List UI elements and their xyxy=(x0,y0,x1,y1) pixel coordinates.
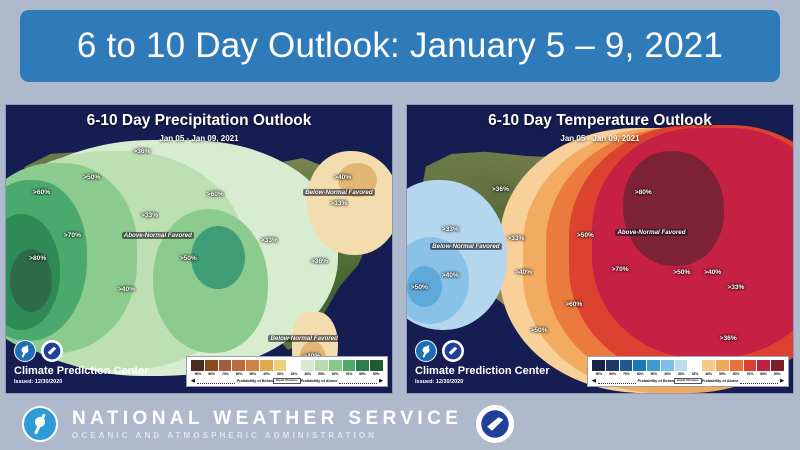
nws-logo-icon xyxy=(41,340,63,362)
nws-footer: NATIONAL WEATHER SERVICE OCEANIC AND ATM… xyxy=(0,398,800,450)
temp-contour-label: >50% xyxy=(411,284,428,291)
temp-contour-label: >50% xyxy=(577,232,594,239)
legend-pct: 33% xyxy=(273,372,287,376)
temp-contour-label: >70% xyxy=(612,266,629,273)
temp-contour-label: >33% xyxy=(442,226,459,233)
precip-favored-label: Above-Normal Favored xyxy=(122,232,194,239)
precip-issued-date: Issued: 12/30/2020 xyxy=(14,379,148,385)
legend-right-arrow-icon: ▶ xyxy=(780,378,784,384)
legend-swatch xyxy=(661,360,675,371)
temp-credit-block: Climate Prediction Center Issued: 12/30/… xyxy=(415,340,549,385)
precip-contour-label: >50% xyxy=(83,174,100,181)
legend-swatch xyxy=(274,360,288,371)
outlook-graphic: 6 to 10 Day Outlook: January 5 – 9, 2021… xyxy=(0,0,800,450)
temp-contour-label: >50% xyxy=(531,327,548,334)
legend-swatch xyxy=(191,360,205,371)
legend-pct: 40% xyxy=(301,372,315,376)
legend-pct: 50% xyxy=(246,372,260,376)
temp-legend-percents: 50% 80% 70% 60% 50% 40% 33% 33% 40% 50% … xyxy=(592,372,784,376)
legend-pct: 50% xyxy=(314,372,328,376)
temp-contour-label: >33% xyxy=(507,235,524,242)
temp-legend-swatches xyxy=(592,360,784,371)
precip-contour-label: >33% xyxy=(330,200,347,207)
legend-pct: 70% xyxy=(619,372,633,376)
legend-swatch xyxy=(329,360,343,371)
legend-swatch xyxy=(301,360,315,371)
temp-contour-label: >60% xyxy=(565,301,582,308)
noaa-seal-icon xyxy=(22,406,58,442)
legend-pct: 60% xyxy=(729,372,743,376)
precip-contour-label: >60% xyxy=(207,191,224,198)
legend-pct: 80% xyxy=(757,372,771,376)
legend-swatch xyxy=(647,360,661,371)
legend-swatch xyxy=(356,360,370,371)
temp-contour-label: >33% xyxy=(727,284,744,291)
temp-shade-above-80-core xyxy=(623,151,723,266)
precip-favored-label: Below-Normal Favored xyxy=(303,189,374,196)
legend-swatch xyxy=(771,360,784,371)
legend-pct: 80% xyxy=(606,372,620,376)
nws-seal-icon xyxy=(476,405,514,443)
legend-right-arrow-icon: ▶ xyxy=(379,378,383,384)
legend-pct: 70% xyxy=(218,372,232,376)
page-title: 6 to 10 Day Outlook: January 5 – 9, 2021 xyxy=(77,26,723,66)
legend-swatch xyxy=(205,360,219,371)
legend-dots xyxy=(598,379,636,384)
legend-left-arrow-icon: ◀ xyxy=(592,378,596,384)
legend-pct: 50% xyxy=(715,372,729,376)
legend-above-label: Probability of Above xyxy=(702,379,739,383)
precip-favored-label: Below-Normal Favored xyxy=(268,335,339,342)
legend-pct: 50% xyxy=(647,372,661,376)
temp-favored-label: Below-Normal Favored xyxy=(430,243,501,250)
legend-swatch xyxy=(232,360,246,371)
legend-pct: 50% xyxy=(770,372,784,376)
legend-swatch xyxy=(219,360,233,371)
legend-left-arrow-icon: ◀ xyxy=(191,378,195,384)
legend-pct: 60% xyxy=(328,372,342,376)
temperature-map-panel[interactable]: 6-10 Day Temperature Outlook Jan 05 - Ja… xyxy=(406,104,794,394)
footer-agency-name: NATIONAL WEATHER SERVICE xyxy=(72,409,462,428)
legend-pct: 60% xyxy=(232,372,246,376)
temp-contour-label: >80% xyxy=(635,189,652,196)
credit-logos xyxy=(14,340,148,362)
legend-pct: 40% xyxy=(260,372,274,376)
temp-contour-label: >36% xyxy=(720,335,737,342)
legend-swatch xyxy=(620,360,634,371)
temp-contour-label: >36% xyxy=(492,186,509,193)
legend-pct: 50% xyxy=(369,372,383,376)
legend-pct: 40% xyxy=(702,372,716,376)
legend-swatch xyxy=(592,360,606,371)
legend-dots xyxy=(740,379,778,384)
legend-pct: 33% xyxy=(688,372,702,376)
title-banner: 6 to 10 Day Outlook: January 5 – 9, 2021 xyxy=(20,10,780,82)
legend-below-label: Probability of Below xyxy=(638,379,675,383)
precip-credit-title: Climate Prediction Center xyxy=(14,365,148,377)
nws-logo-icon xyxy=(442,340,464,362)
legend-swatch xyxy=(744,360,758,371)
legend-swatch xyxy=(716,360,730,371)
temp-contour-label: >40% xyxy=(704,269,721,276)
precipitation-map-panel[interactable]: 6-10 Day Precipitation Outlook Jan 05 - … xyxy=(5,104,393,394)
legend-swatch xyxy=(315,360,329,371)
credit-logos xyxy=(415,340,549,362)
legend-swatch xyxy=(287,360,301,371)
temp-contour-label: >40% xyxy=(515,269,532,276)
legend-swatch xyxy=(246,360,260,371)
precip-legend-percents: 50% 80% 70% 60% 50% 40% 33% 33% 40% 50% … xyxy=(191,372,383,376)
temp-contour-label: >40% xyxy=(442,272,459,279)
legend-dots xyxy=(197,379,235,384)
legend-pct: 33% xyxy=(674,372,688,376)
legend-pct: 80% xyxy=(205,372,219,376)
precip-contour-label: >36% xyxy=(133,148,150,155)
legend-swatch xyxy=(633,360,647,371)
footer-text-block: NATIONAL WEATHER SERVICE OCEANIC AND ATM… xyxy=(72,409,462,440)
precip-legend-swatches xyxy=(191,360,383,371)
legend-pct: 50% xyxy=(191,372,205,376)
legend-pct: 60% xyxy=(633,372,647,376)
footer-department-name: OCEANIC AND ATMOSPHERIC ADMINISTRATION xyxy=(72,431,462,440)
legend-above-label: Probability of Above xyxy=(301,379,338,383)
legend-swatch xyxy=(606,360,620,371)
temp-credit-title: Climate Prediction Center xyxy=(415,365,549,377)
noaa-logo-icon xyxy=(415,340,437,362)
temp-contour-label: >50% xyxy=(673,269,690,276)
legend-swatch xyxy=(757,360,771,371)
precip-contour-label: >40% xyxy=(118,286,135,293)
legend-pct: 50% xyxy=(592,372,606,376)
temp-legend-footer: ◀ Probability of Below Equal Chances Pro… xyxy=(592,378,784,384)
precip-contour-label: >50% xyxy=(180,255,197,262)
precip-contour-label: >70% xyxy=(64,232,81,239)
precip-contour-label: >36% xyxy=(311,258,328,265)
temp-issued-date: Issued: 12/30/2020 xyxy=(415,379,549,385)
precip-contour-label: >80% xyxy=(29,255,46,262)
temp-favored-label: Above-Normal Favored xyxy=(615,229,687,236)
temp-legend: 50% 80% 70% 60% 50% 40% 33% 33% 40% 50% … xyxy=(587,356,789,387)
legend-pct: 80% xyxy=(356,372,370,376)
noaa-logo-icon xyxy=(14,340,36,362)
precip-contour-label: >40% xyxy=(334,174,351,181)
legend-swatch xyxy=(730,360,744,371)
legend-swatch xyxy=(370,360,383,371)
legend-swatch xyxy=(702,360,716,371)
legend-pct: 33% xyxy=(287,372,301,376)
legend-dots xyxy=(339,379,377,384)
legend-swatch xyxy=(688,360,702,371)
legend-swatch xyxy=(675,360,689,371)
precip-contour-label: >33% xyxy=(141,212,158,219)
precip-legend: 50% 80% 70% 60% 50% 40% 33% 33% 40% 50% … xyxy=(186,356,388,387)
legend-swatch xyxy=(343,360,357,371)
precip-legend-footer: ◀ Probability of Below Equal Chances Pro… xyxy=(191,378,383,384)
legend-pct: 70% xyxy=(743,372,757,376)
legend-below-label: Probability of Below xyxy=(237,379,274,383)
legend-equal-chances: Equal Chances xyxy=(674,378,702,383)
legend-pct: 70% xyxy=(342,372,356,376)
precip-credit-block: Climate Prediction Center Issued: 12/30/… xyxy=(14,340,148,385)
precip-contour-label: >33% xyxy=(261,237,278,244)
legend-equal-chances: Equal Chances xyxy=(273,378,301,383)
legend-swatch xyxy=(260,360,274,371)
precip-contour-label: >60% xyxy=(33,189,50,196)
legend-pct: 40% xyxy=(661,372,675,376)
